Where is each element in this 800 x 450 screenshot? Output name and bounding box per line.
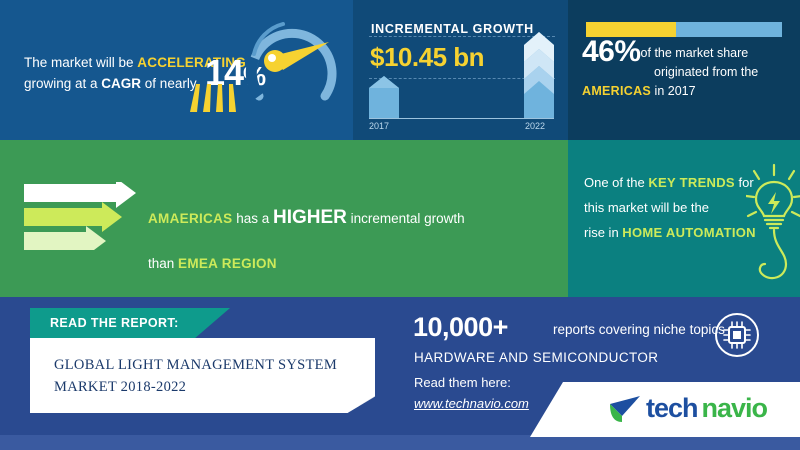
logo-text-tech: tech (646, 393, 698, 424)
region-text: AMAERICAS has a HIGHER incremental growt… (148, 195, 548, 286)
panel-region-comparison: AMAERICAS has a HIGHER incremental growt… (0, 140, 568, 297)
trend-home-automation: HOME AUTOMATION (622, 225, 756, 240)
share-region: AMERICAS (582, 84, 651, 98)
middle-row: AMAERICAS has a HIGHER incremental growt… (0, 140, 800, 297)
read-the-report-label: READ THE REPORT: (50, 316, 179, 330)
region-name: AMAERICAS (148, 211, 232, 226)
region-mid-b: incremental growth (347, 211, 465, 226)
panel-incremental-growth: INCREMENTAL GROWTH $10.45 bn 2017 2022 (353, 0, 568, 140)
growth-year-start: 2017 (369, 121, 389, 131)
share-text-c: in 2017 (651, 84, 695, 98)
reports-count: 10,000+ (413, 312, 508, 343)
panel-key-trends: One of the KEY TRENDS for this market wi… (568, 140, 800, 297)
logo-text-navio: navio (702, 393, 768, 424)
bar-2022 (524, 32, 554, 119)
region-line2-pre: than (148, 256, 178, 271)
speedometer-icon (237, 8, 347, 118)
share-value: 46% (582, 35, 641, 68)
read-them-here-label: Read them here: (414, 375, 511, 390)
region-emphasis: HIGHER (273, 207, 347, 228)
report-card[interactable]: GLOBAL LIGHT MANAGEMENT SYSTEM MARKET 20… (30, 338, 375, 413)
trend-line3-pre: rise in (584, 225, 622, 240)
gauge-ticks-icon (188, 78, 250, 112)
growth-title: INCREMENTAL GROWTH (371, 22, 534, 36)
lightbulb-icon (746, 162, 800, 287)
growth-year-end: 2022 (525, 121, 545, 131)
region-emea: EMEA REGION (178, 256, 277, 271)
top-row: The market will be ACCELERATING growing … (0, 0, 800, 140)
infographic-canvas: The market will be ACCELERATING growing … (0, 0, 800, 450)
bar-2017 (369, 76, 399, 119)
market-share-text: 46%of the market share originated from t… (582, 42, 797, 101)
share-text-a: of the market share (641, 46, 749, 60)
trend-line1-pre: One of the (584, 175, 648, 190)
cagr-line1-pre: The market will be (24, 55, 137, 70)
footer-bottom-strip (0, 435, 800, 450)
paper-plane-icon (608, 394, 642, 424)
trend-keytrends: KEY TRENDS (648, 175, 735, 190)
trend-text: One of the KEY TRENDS for this market wi… (584, 170, 766, 245)
arrow-right-icon (24, 182, 144, 250)
report-title: GLOBAL LIGHT MANAGEMENT SYSTEM MARKET 20… (54, 354, 354, 398)
microchip-icon (714, 312, 760, 358)
growth-value: $10.45 bn (370, 42, 484, 73)
cagr-line2-pre: growing at a (24, 76, 101, 91)
technavio-url[interactable]: www.technavio.com (414, 396, 529, 411)
reports-count-suffix: reports covering niche topics (553, 322, 725, 337)
share-text-b: originated from the (654, 63, 758, 82)
cagr-label: CAGR (101, 76, 141, 91)
panel-cagr: The market will be ACCELERATING growing … (0, 0, 353, 140)
panel-market-share: 46%of the market share originated from t… (568, 0, 800, 140)
trend-line2: this market will be the (584, 200, 709, 215)
region-mid-a: has a (232, 211, 273, 226)
report-category: HARDWARE AND SEMICONDUCTOR (414, 350, 658, 365)
growth-axis (369, 118, 554, 119)
technavio-logo[interactable]: technavio (608, 393, 767, 424)
share-bar-rest (676, 22, 782, 37)
